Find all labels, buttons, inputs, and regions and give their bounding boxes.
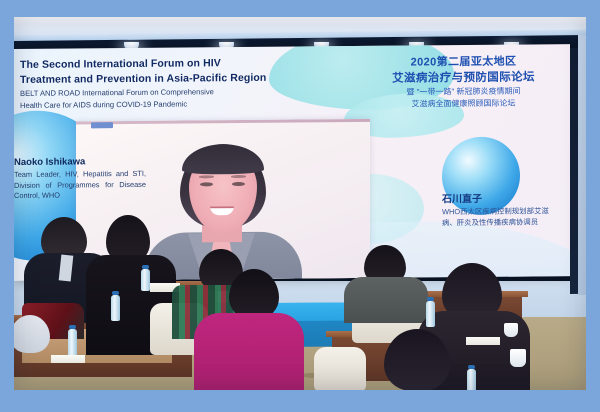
audience-chair — [314, 347, 366, 390]
name-card — [466, 337, 500, 345]
tea-cup — [510, 349, 526, 367]
audience-head — [229, 269, 279, 319]
tea-cup — [504, 323, 518, 337]
water-bottle — [467, 369, 476, 390]
audience-torso — [344, 277, 428, 323]
water-bottle — [68, 329, 77, 357]
bottle-cap — [69, 325, 76, 329]
photo-frame: The Second International Forum on HIV Tr… — [0, 0, 600, 412]
bottle-cap — [142, 265, 149, 269]
audience-pink-sweater — [194, 313, 304, 390]
conference-photo: The Second International Forum on HIV Tr… — [14, 17, 586, 390]
bottle-cap — [468, 365, 475, 369]
water-bottle — [426, 301, 435, 327]
water-bottle — [111, 295, 120, 321]
name-card — [51, 355, 85, 363]
audience — [14, 17, 586, 390]
bottle-cap — [112, 291, 119, 295]
bottle-cap — [427, 297, 434, 301]
water-bottle — [141, 269, 150, 291]
